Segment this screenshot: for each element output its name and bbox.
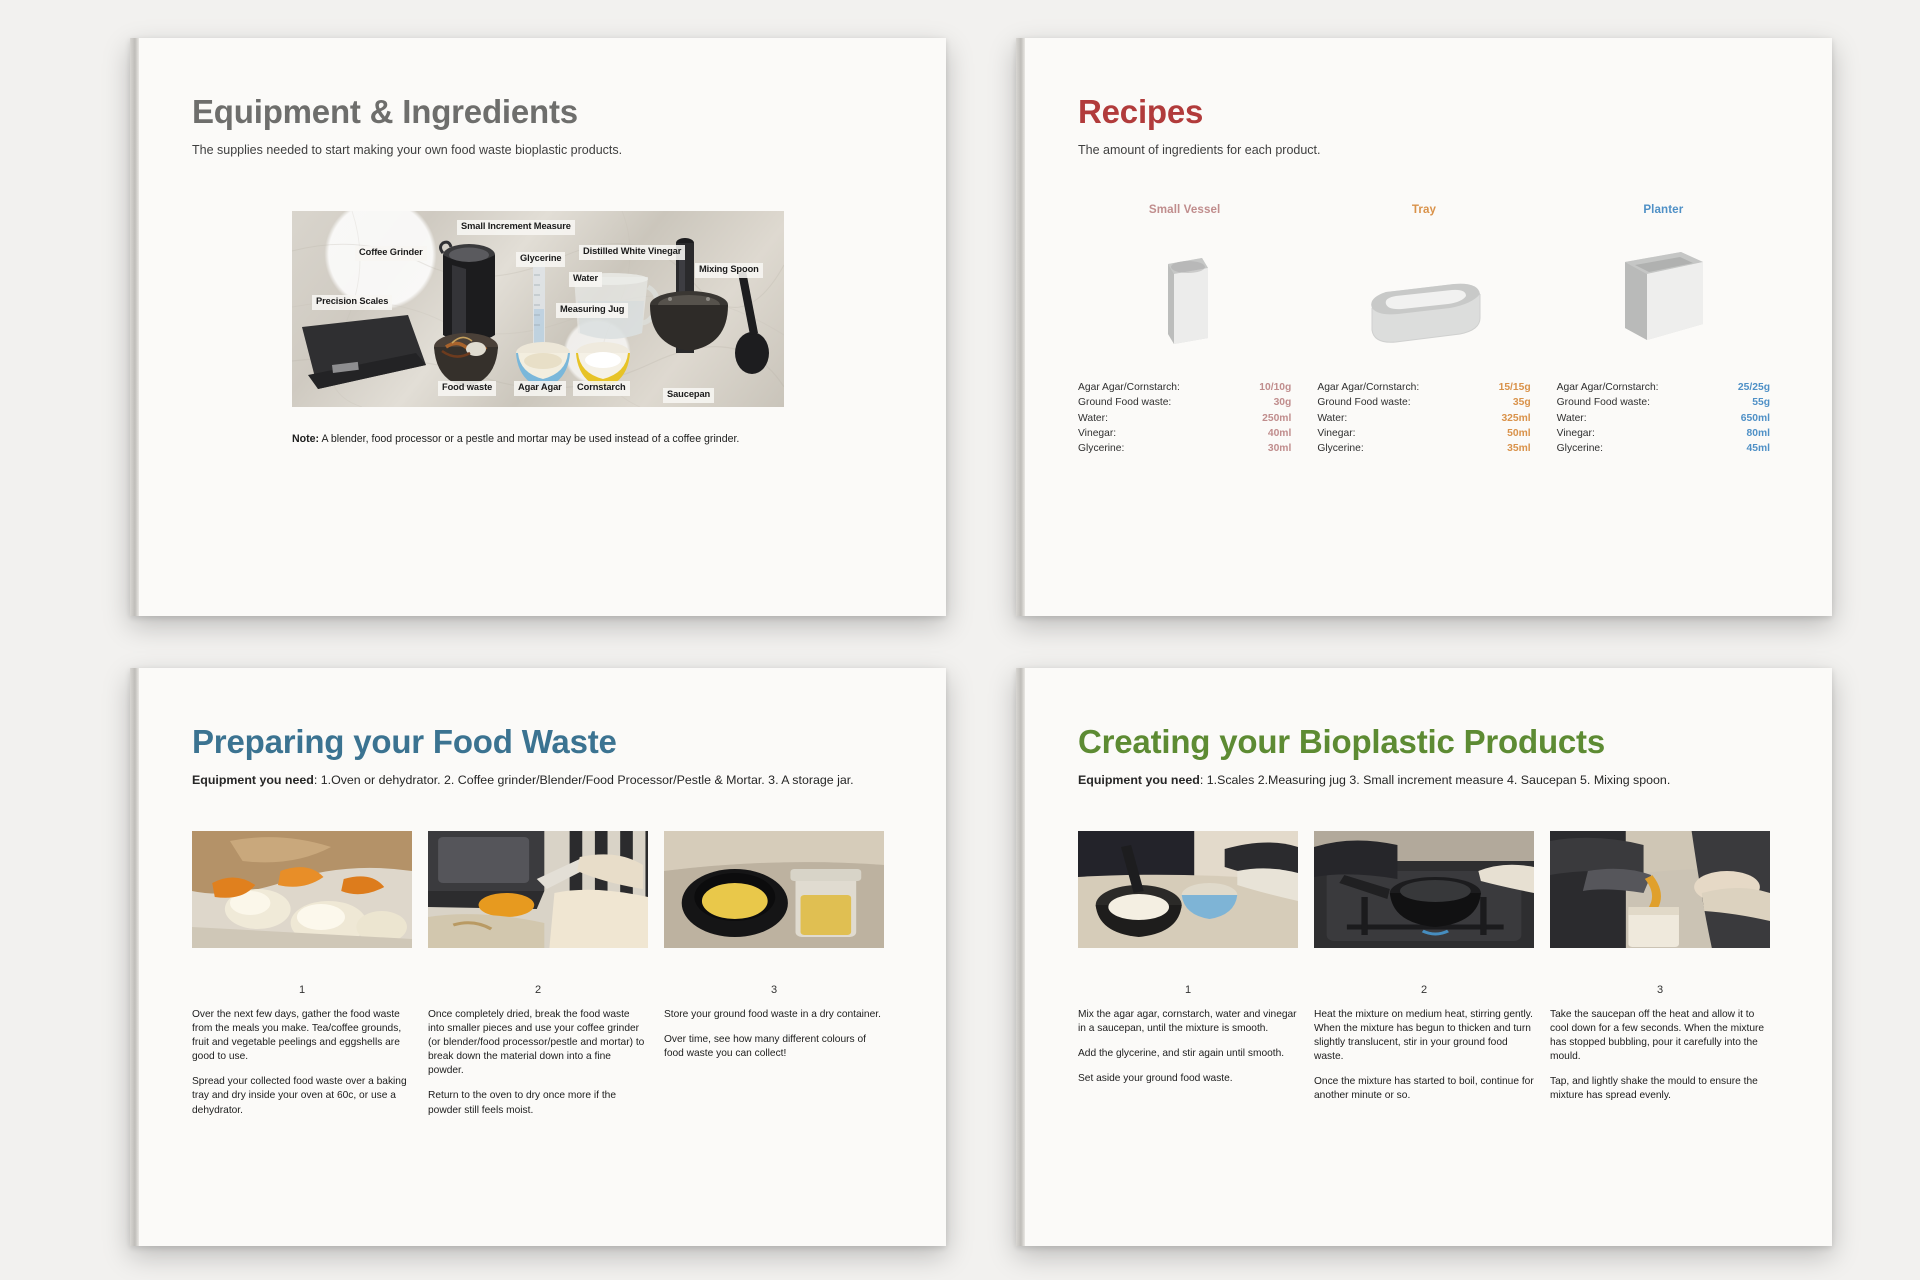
photo-label-food-waste: Food waste (438, 381, 496, 396)
step-item: 3 Store your ground food waste in a dry … (664, 831, 884, 1118)
ingredient-key: Agar Agar/Cornstarch: (1078, 380, 1180, 395)
product-gallery: Small Vessel Tray (1078, 203, 1770, 350)
ingredient-value: 35g (1513, 395, 1531, 410)
step-paragraph: Set aside your ground food waste. (1078, 1072, 1298, 1086)
equipment-photo: Small Increment Measure Coffee Grinder G… (292, 211, 784, 407)
step-paragraph: Add the glycerine, and stir again until … (1078, 1047, 1298, 1061)
page-title: Recipes (1078, 94, 1770, 130)
recipe-row: Agar Agar/Cornstarch:25/25g (1557, 380, 1770, 395)
ingredient-key: Ground Food waste: (1078, 395, 1171, 410)
recipe-row: Glycerine:45ml (1557, 441, 1770, 456)
step-text: Store your ground food waste in a dry co… (664, 1008, 884, 1061)
ingredient-value: 325ml (1501, 411, 1530, 426)
step-number: 3 (1550, 984, 1770, 996)
product-label: Small Vessel (1078, 203, 1291, 216)
recipe-row: Water:325ml (1317, 411, 1530, 426)
saucepan-object (648, 289, 730, 363)
precision-scales-object (298, 309, 428, 395)
storage-jar-image (664, 831, 884, 948)
product-label: Planter (1557, 203, 1770, 216)
ingredient-value: 80ml (1747, 426, 1770, 441)
ingredient-key: Glycerine: (1317, 441, 1363, 456)
slide-equipment-ingredients: Equipment & Ingredients The supplies nee… (130, 38, 946, 616)
grinding-image (428, 831, 648, 948)
step-photo-pouring (1550, 831, 1770, 948)
recipe-row: Water:650ml (1557, 411, 1770, 426)
photo-label-coffee-grinder: Coffee Grinder (355, 246, 427, 261)
photo-label-small-increment-measure: Small Increment Measure (457, 220, 575, 235)
note-text: A blender, food processor or a pestle an… (321, 433, 739, 445)
ingredient-key: Ground Food waste: (1317, 395, 1410, 410)
recipe-row: Agar Agar/Cornstarch:10/10g (1078, 380, 1291, 395)
product-small-vessel: Small Vessel (1078, 203, 1291, 350)
ingredient-key: Water: (1557, 411, 1587, 426)
mixing-spoon-object (722, 263, 778, 379)
slide-preparing-food-waste: Preparing your Food Waste Equipment you … (130, 668, 946, 1246)
step-paragraph: Take the saucepan off the heat and allow… (1550, 1008, 1770, 1064)
step-paragraph: Store your ground food waste in a dry co… (664, 1008, 884, 1022)
step-number: 3 (664, 984, 884, 996)
photo-label-glycerine: Glycerine (516, 252, 565, 267)
pouring-image (1550, 831, 1770, 948)
page-title: Preparing your Food Waste (192, 724, 884, 760)
small-vessel-icon (1154, 250, 1216, 350)
ingredient-key: Glycerine: (1557, 441, 1603, 456)
equipment-label: Equipment you need (192, 773, 314, 787)
recipe-row: Ground Food waste:35g (1317, 395, 1530, 410)
step-paragraph: Tap, and lightly shake the mould to ensu… (1550, 1075, 1770, 1103)
ingredient-value: 250ml (1262, 411, 1291, 426)
slide-creating-bioplastic-products: Creating your Bioplastic Products Equipm… (1016, 668, 1832, 1246)
slide-deck: Equipment & Ingredients The supplies nee… (0, 0, 1920, 1280)
ingredient-value: 55g (1752, 395, 1770, 410)
page-subtitle: The amount of ingredients for each produ… (1078, 142, 1770, 159)
step-photo-heating (1314, 831, 1534, 948)
step-text: Take the saucepan off the heat and allow… (1550, 1008, 1770, 1103)
ingredient-value: 40ml (1268, 426, 1291, 441)
photo-label-saucepan: Saucepan (663, 388, 714, 403)
equipment-text: : 1.Scales 2.Measuring jug 3. Small incr… (1200, 773, 1670, 787)
equipment-needed: Equipment you need: 1.Scales 2.Measuring… (1078, 772, 1770, 789)
equipment-label: Equipment you need (1078, 773, 1200, 787)
step-item: 1 Over the next few days, gather the foo… (192, 831, 412, 1118)
ingredient-value: 15/15g (1499, 380, 1531, 395)
page-title: Creating your Bioplastic Products (1078, 724, 1770, 760)
step-paragraph: Over time, see how many different colour… (664, 1033, 884, 1061)
step-paragraph: Spread your collected food waste over a … (192, 1075, 412, 1117)
step-photo-grinding (428, 831, 648, 948)
product-tray: Tray (1317, 203, 1530, 350)
step-text: Over the next few days, gather the food … (192, 1008, 412, 1118)
step-number: 2 (428, 984, 648, 996)
heating-image (1314, 831, 1534, 948)
ingredient-value: 35ml (1507, 441, 1530, 456)
ingredient-value: 30g (1274, 395, 1292, 410)
note-label: Note: (292, 433, 319, 445)
page-title: Equipment & Ingredients (192, 94, 884, 130)
product-planter: Planter (1557, 203, 1770, 350)
photo-label-measuring-jug: Measuring Jug (556, 303, 628, 318)
recipe-row: Ground Food waste:30g (1078, 395, 1291, 410)
photo-label-mixing-spoon: Mixing Spoon (695, 263, 763, 278)
step-number: 1 (192, 984, 412, 996)
ingredient-key: Ground Food waste: (1557, 395, 1650, 410)
step-paragraph: Heat the mixture on medium heat, stirrin… (1314, 1008, 1534, 1064)
recipe-column-planter: Agar Agar/Cornstarch:25/25g Ground Food … (1557, 380, 1770, 456)
step-paragraph: Over the next few days, gather the food … (192, 1008, 412, 1064)
slide-recipes: Recipes The amount of ingredients for ea… (1016, 38, 1832, 616)
ingredient-key: Vinegar: (1078, 426, 1116, 441)
equipment-needed: Equipment you need: 1.Oven or dehydrator… (192, 772, 884, 789)
recipe-row: Agar Agar/Cornstarch:15/15g (1317, 380, 1530, 395)
step-paragraph: Return to the oven to dry once more if t… (428, 1089, 648, 1117)
recipe-row: Glycerine:35ml (1317, 441, 1530, 456)
ingredient-value: 50ml (1507, 426, 1530, 441)
food-scraps-image (192, 831, 412, 948)
ingredient-key: Agar Agar/Cornstarch: (1317, 380, 1419, 395)
step-text: Heat the mixture on medium heat, stirrin… (1314, 1008, 1534, 1103)
recipes-table: Agar Agar/Cornstarch:10/10g Ground Food … (1078, 380, 1770, 456)
ingredient-key: Vinegar: (1557, 426, 1595, 441)
recipe-column-tray: Agar Agar/Cornstarch:15/15g Ground Food … (1317, 380, 1530, 456)
equipment-note: Note: A blender, food processor or a pes… (292, 432, 784, 447)
photo-label-precision-scales: Precision Scales (312, 295, 392, 310)
ingredient-key: Vinegar: (1317, 426, 1355, 441)
ingredient-key: Water: (1078, 411, 1108, 426)
ingredient-value: 650ml (1741, 411, 1770, 426)
tray-icon (1362, 278, 1486, 350)
step-item: 2 Once completely dried, break the food … (428, 831, 648, 1118)
photo-label-water: Water (569, 272, 602, 287)
step-photo-food-scraps (192, 831, 412, 948)
step-list: 1 Over the next few days, gather the foo… (192, 831, 884, 1118)
step-item: 1 Mix the agar agar, cornstarch, water a… (1078, 831, 1298, 1103)
step-photo-mixing (1078, 831, 1298, 948)
step-list: 1 Mix the agar agar, cornstarch, water a… (1078, 831, 1770, 1103)
equipment-text: : 1.Oven or dehydrator. 2. Coffee grinde… (314, 773, 854, 787)
recipe-row: Vinegar:50ml (1317, 426, 1530, 441)
ingredient-value: 25/25g (1738, 380, 1770, 395)
step-item: 3 Take the saucepan off the heat and all… (1550, 831, 1770, 1103)
step-text: Once completely dried, break the food wa… (428, 1008, 648, 1118)
photo-label-distilled-white-vinegar: Distilled White Vinegar (579, 245, 685, 260)
step-item: 2 Heat the mixture on medium heat, stirr… (1314, 831, 1534, 1103)
step-text: Mix the agar agar, cornstarch, water and… (1078, 1008, 1298, 1086)
ingredient-value: 30ml (1268, 441, 1291, 456)
product-label: Tray (1317, 203, 1530, 216)
step-paragraph: Once the mixture has started to boil, co… (1314, 1075, 1534, 1103)
step-paragraph: Once completely dried, break the food wa… (428, 1008, 648, 1078)
recipe-row: Glycerine:30ml (1078, 441, 1291, 456)
ingredient-key: Glycerine: (1078, 441, 1124, 456)
step-photo-storage-jar (664, 831, 884, 948)
step-number: 2 (1314, 984, 1534, 996)
recipe-column-small-vessel: Agar Agar/Cornstarch:10/10g Ground Food … (1078, 380, 1291, 456)
step-paragraph: Mix the agar agar, cornstarch, water and… (1078, 1008, 1298, 1036)
recipe-row: Water:250ml (1078, 411, 1291, 426)
step-number: 1 (1078, 984, 1298, 996)
ingredient-key: Water: (1317, 411, 1347, 426)
page-subtitle: The supplies needed to start making your… (192, 142, 884, 159)
ingredient-value: 10/10g (1259, 380, 1291, 395)
recipe-row: Vinegar:80ml (1557, 426, 1770, 441)
recipe-row: Vinegar:40ml (1078, 426, 1291, 441)
photo-label-agar-agar: Agar Agar (514, 381, 566, 396)
planter-icon (1615, 246, 1711, 350)
ingredient-value: 45ml (1747, 441, 1770, 456)
ingredient-key: Agar Agar/Cornstarch: (1557, 380, 1659, 395)
recipe-row: Ground Food waste:55g (1557, 395, 1770, 410)
photo-label-cornstarch: Cornstarch (573, 381, 630, 396)
mixing-image (1078, 831, 1298, 948)
